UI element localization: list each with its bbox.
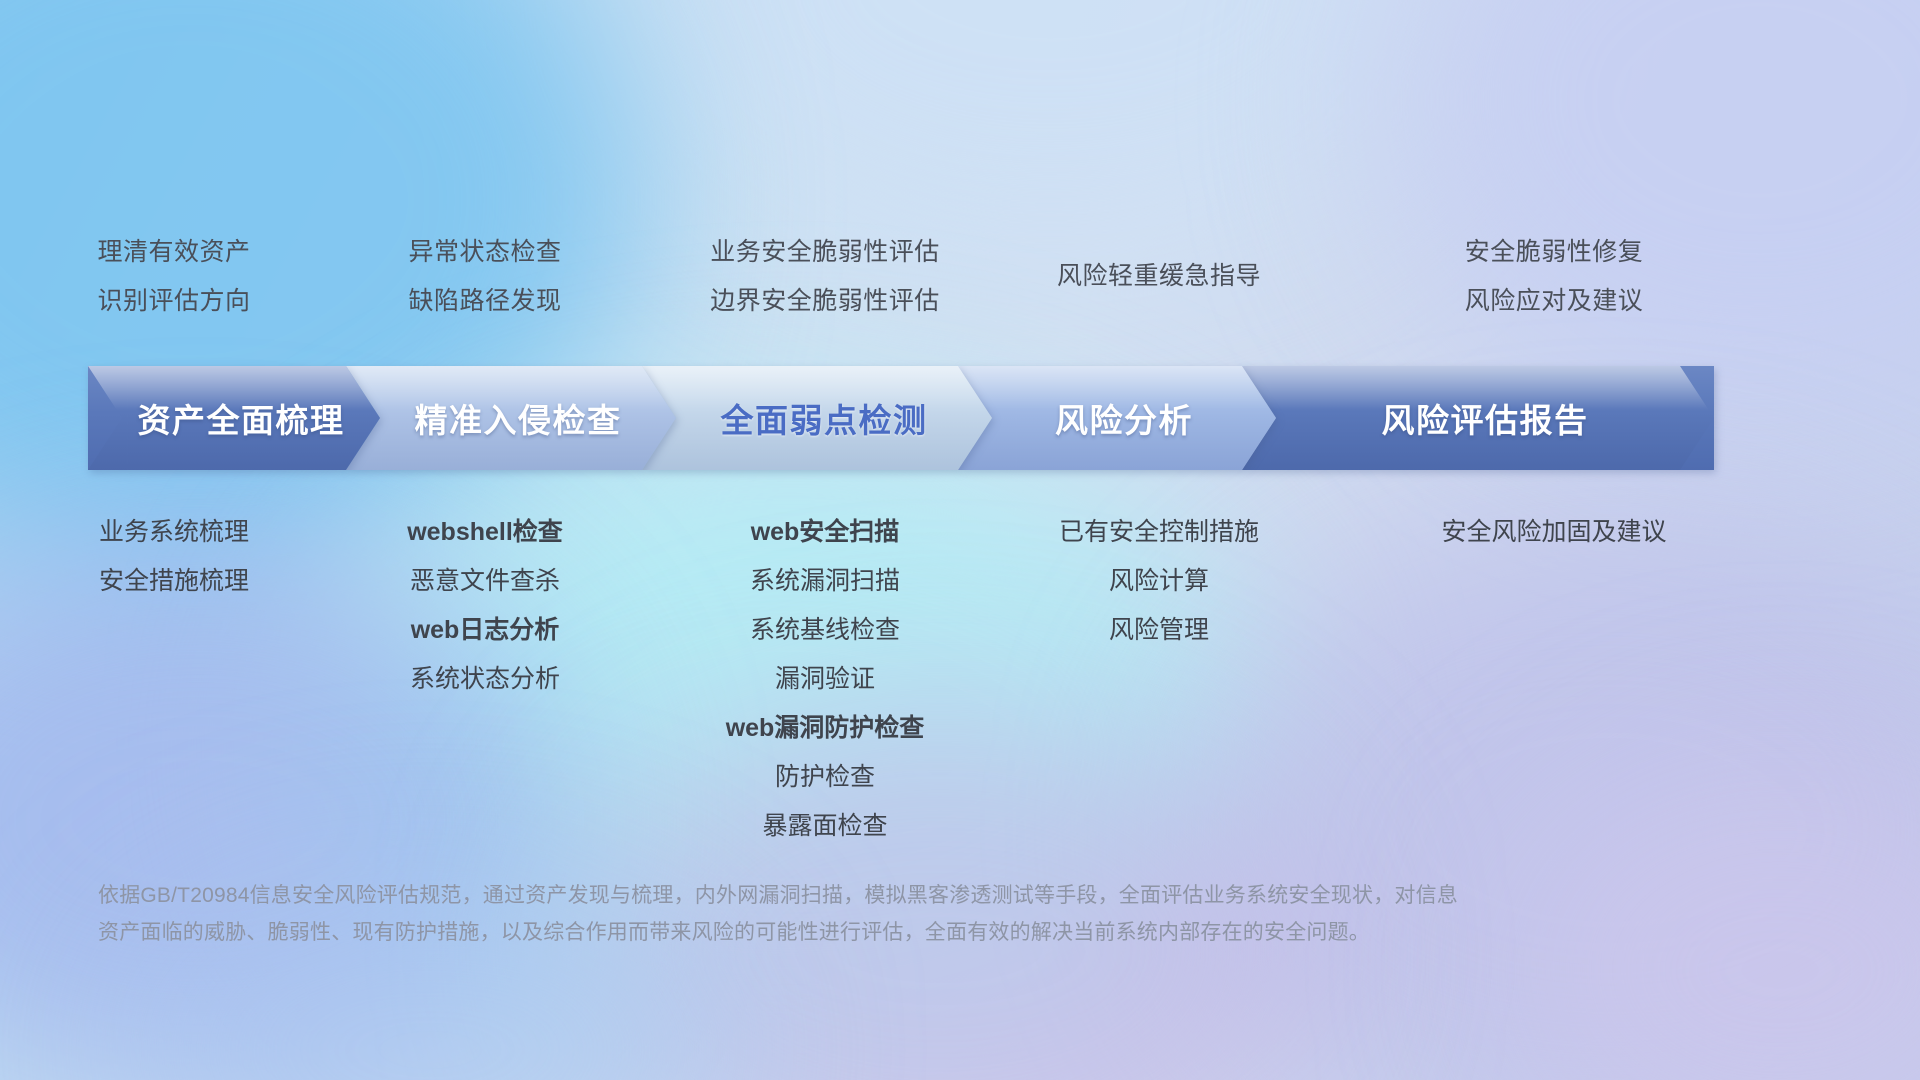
bottom-notes-risk-report: 安全风险加固及建议 xyxy=(1318,508,1790,557)
stage-label: 全面弱点检测 xyxy=(707,394,928,442)
bottom-note: 业务系统梳理 xyxy=(28,508,320,557)
bottom-note: 安全风险加固及建议 xyxy=(1318,508,1790,557)
top-note: 异常状态检查 xyxy=(320,228,650,277)
process-diagram: 理清有效资产识别评估方向异常状态检查缺陷路径发现业务安全脆弱性评估边界安全脆弱性… xyxy=(0,0,1920,1080)
stage-label: 风险评估报告 xyxy=(1368,394,1589,442)
bottom-note: 已有安全控制措施 xyxy=(1000,508,1318,557)
bottom-note: 安全措施梳理 xyxy=(28,557,320,606)
process-chevron-banner: 资产全面梳理精准入侵检查全面弱点检测风险分析风险评估报告 xyxy=(88,366,1850,470)
stage-label: 精准入侵检查 xyxy=(401,394,622,442)
top-note: 风险应对及建议 xyxy=(1318,277,1790,326)
stage-chevron-asset-inventory[interactable]: 资产全面梳理 xyxy=(88,366,380,470)
footer-line-2: 资产面临的威胁、脆弱性、现有防护措施，以及综合作用而带来风险的可能性进行评估，全… xyxy=(98,914,1658,951)
stage-chevron-weakness-detection[interactable]: 全面弱点检测 xyxy=(642,366,992,470)
bottom-note: 漏洞验证 xyxy=(650,655,1000,704)
top-note: 边界安全脆弱性评估 xyxy=(650,277,1000,326)
top-note: 业务安全脆弱性评估 xyxy=(650,228,1000,277)
top-notes-intrusion-check: 异常状态检查缺陷路径发现 xyxy=(320,228,650,326)
stage-label: 风险分析 xyxy=(1041,394,1193,442)
stage-chevron-intrusion-check[interactable]: 精准入侵检查 xyxy=(346,366,676,470)
top-notes-risk-report: 安全脆弱性修复风险应对及建议 xyxy=(1318,228,1790,326)
bottom-note: 防护检查 xyxy=(650,753,1000,802)
bottom-note: 风险管理 xyxy=(1000,606,1318,655)
bottom-note: web漏洞防护检查 xyxy=(650,704,1000,753)
stage-label: 资产全面梳理 xyxy=(124,394,345,442)
top-notes-weakness-detection: 业务安全脆弱性评估边界安全脆弱性评估 xyxy=(650,228,1000,326)
bottom-note: 恶意文件查杀 xyxy=(320,557,650,606)
bottom-note: 系统基线检查 xyxy=(650,606,1000,655)
bottom-note: 风险计算 xyxy=(1000,557,1318,606)
top-note: 缺陷路径发现 xyxy=(320,277,650,326)
footer-line-1: 依据GB/T20984信息安全风险评估规范，通过资产发现与梳理，内外网漏洞扫描，… xyxy=(98,877,1658,914)
top-note: 风险轻重缓急指导 xyxy=(1000,252,1318,301)
stage-chevron-risk-analysis[interactable]: 风险分析 xyxy=(958,366,1276,470)
bottom-notes-risk-analysis: 已有安全控制措施风险计算风险管理 xyxy=(1000,508,1318,655)
bottom-note: web日志分析 xyxy=(320,606,650,655)
bottom-note: 暴露面检查 xyxy=(650,802,1000,851)
stage-chevron-risk-report[interactable]: 风险评估报告 xyxy=(1242,366,1714,470)
top-note: 安全脆弱性修复 xyxy=(1318,228,1790,277)
bottom-notes-weakness-detection: web安全扫描系统漏洞扫描系统基线检查漏洞验证web漏洞防护检查防护检查暴露面检… xyxy=(650,508,1000,851)
bottom-note: web安全扫描 xyxy=(650,508,1000,557)
bottom-note: 系统漏洞扫描 xyxy=(650,557,1000,606)
top-notes-row: 理清有效资产识别评估方向异常状态检查缺陷路径发现业务安全脆弱性评估边界安全脆弱性… xyxy=(0,228,1920,326)
bottom-note: webshell检查 xyxy=(320,508,650,557)
bottom-note: 系统状态分析 xyxy=(320,655,650,704)
bottom-notes-row: 业务系统梳理安全措施梳理webshell检查恶意文件查杀web日志分析系统状态分… xyxy=(0,508,1920,851)
footer-description: 依据GB/T20984信息安全风险评估规范，通过资产发现与梳理，内外网漏洞扫描，… xyxy=(98,877,1658,951)
top-note: 识别评估方向 xyxy=(28,277,320,326)
bottom-notes-intrusion-check: webshell检查恶意文件查杀web日志分析系统状态分析 xyxy=(320,508,650,704)
top-notes-asset-inventory: 理清有效资产识别评估方向 xyxy=(0,228,320,326)
top-notes-risk-analysis: 风险轻重缓急指导 xyxy=(1000,228,1318,326)
bottom-notes-asset-inventory: 业务系统梳理安全措施梳理 xyxy=(0,508,320,606)
top-note: 理清有效资产 xyxy=(28,228,320,277)
